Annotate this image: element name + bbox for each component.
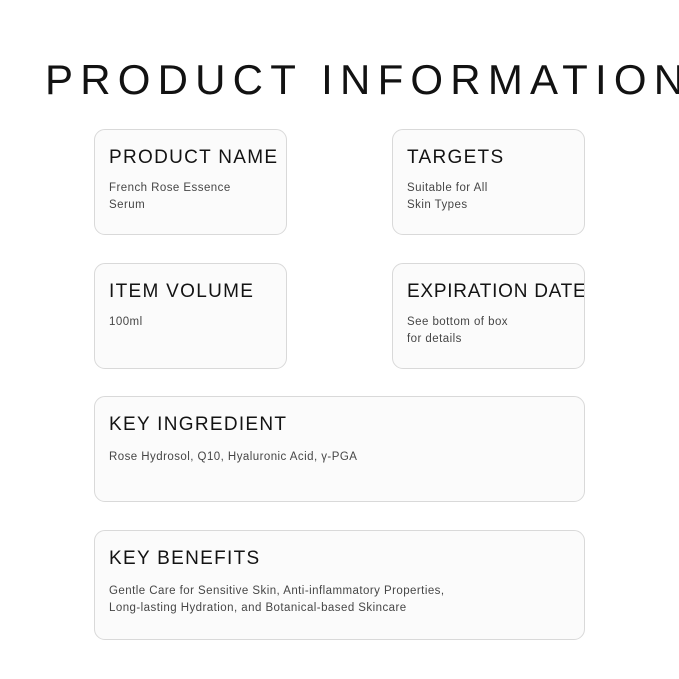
card-key-ingredient-heading: KEY INGREDIENT [109,415,287,434]
card-targets-heading: TARGETS [407,148,504,167]
card-key-ingredient-body: Rose Hydrosol, Q10, Hyaluronic Acid, γ-P… [109,449,357,466]
card-targets-body: Suitable for All Skin Types [407,180,488,213]
card-expiration-date: EXPIRATION DATE See bottom of box for de… [392,263,585,369]
card-product-name-heading: PRODUCT NAME [109,148,278,167]
card-key-benefits-heading: KEY BENEFITS [109,549,260,568]
product-information-page: PRODUCT INFORMATION PRODUCT NAME French … [0,0,679,679]
card-item-volume-heading: ITEM VOLUME [109,282,254,301]
card-item-volume: ITEM VOLUME 100ml [94,263,287,369]
card-targets: TARGETS Suitable for All Skin Types [392,129,585,235]
card-key-benefits-body: Gentle Care for Sensitive Skin, Anti-inf… [109,583,445,616]
card-key-ingredient: KEY INGREDIENT Rose Hydrosol, Q10, Hyalu… [94,396,585,502]
card-product-name-body: French Rose Essence Serum [109,180,231,213]
card-expiration-date-body: See bottom of box for details [407,314,508,347]
card-product-name: PRODUCT NAME French Rose Essence Serum [94,129,287,235]
card-item-volume-body: 100ml [109,314,143,331]
page-title: PRODUCT INFORMATION [45,59,679,101]
card-key-benefits: KEY BENEFITS Gentle Care for Sensitive S… [94,530,585,640]
card-expiration-date-heading: EXPIRATION DATE [407,282,585,301]
